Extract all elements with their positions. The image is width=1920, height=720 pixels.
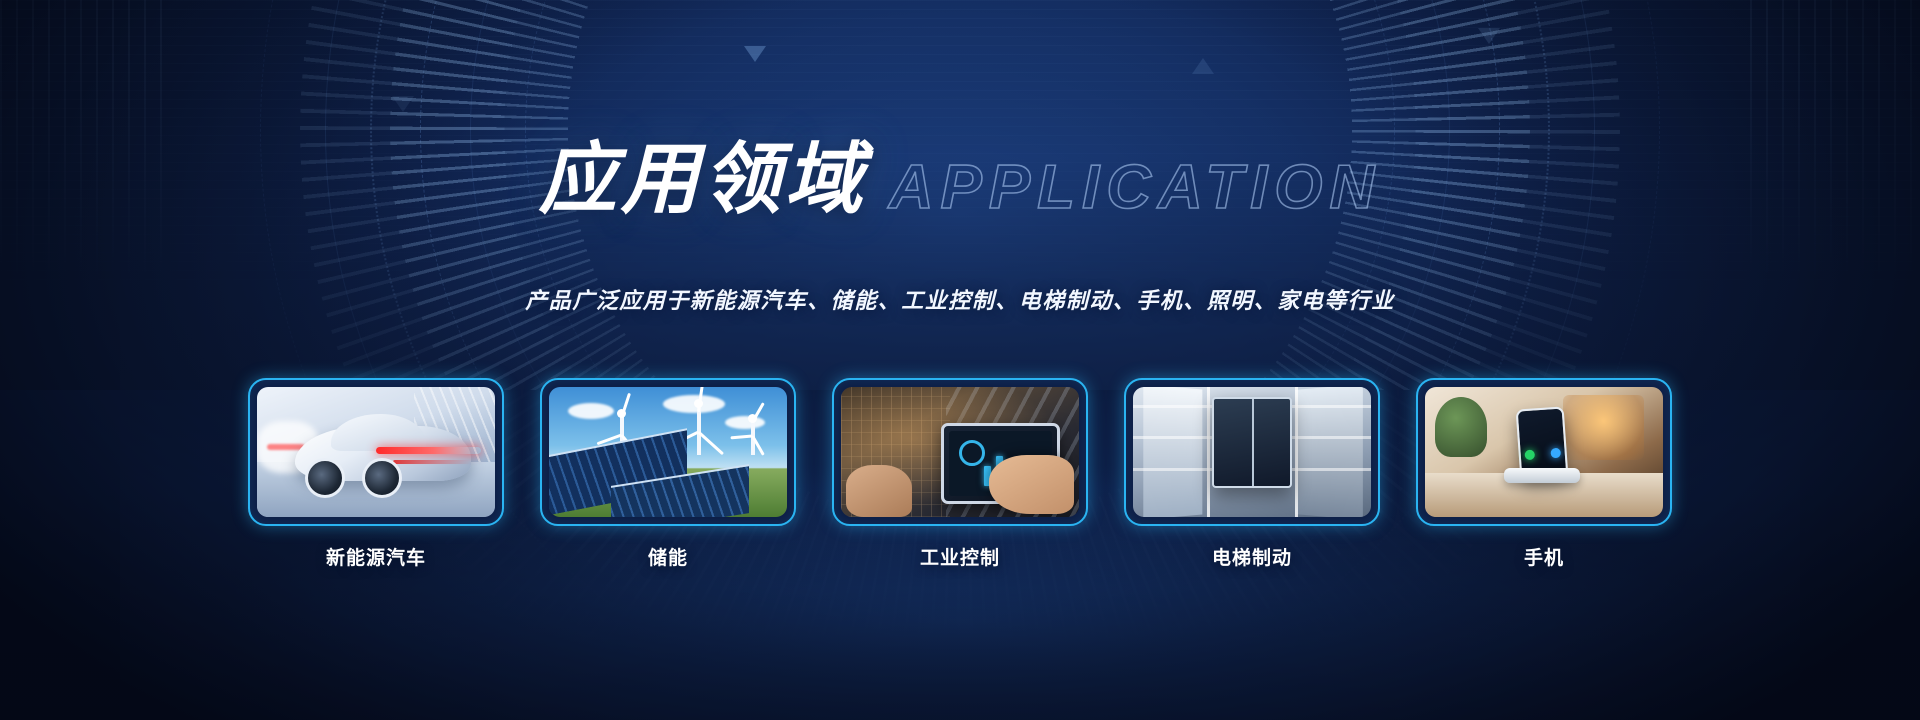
- card-label: 工业控制: [832, 543, 1088, 570]
- banner-stage: 应用领域 APPLICATION 产品广泛应用于新能源汽车、储能、工业控制、电梯…: [0, 0, 1920, 720]
- card-label: 新能源汽车: [248, 543, 504, 570]
- title-chinese: 应用领域: [539, 140, 867, 218]
- card-frame[interactable]: [1416, 378, 1672, 526]
- application-card[interactable]: 工业控制: [832, 378, 1088, 570]
- title-english-outline: APPLICATION: [889, 157, 1382, 219]
- application-card[interactable]: 新能源汽车: [248, 378, 504, 570]
- elevator-shaft-photo: [1133, 387, 1371, 517]
- banner-content: 应用领域 APPLICATION 产品广泛应用于新能源汽车、储能、工业控制、电梯…: [0, 0, 1920, 720]
- application-card[interactable]: 电梯制动: [1124, 378, 1380, 570]
- application-card[interactable]: 手机: [1416, 378, 1672, 570]
- card-frame[interactable]: [832, 378, 1088, 526]
- application-card-list: 新能源汽车: [0, 378, 1920, 570]
- wind-solar-energy-storage-photo: [549, 387, 787, 517]
- card-label: 手机: [1416, 543, 1672, 570]
- ev-car-photo: [257, 387, 495, 517]
- card-frame[interactable]: [1124, 378, 1380, 526]
- application-card[interactable]: 储能: [540, 378, 796, 570]
- page-title: 应用领域 APPLICATION: [0, 140, 1920, 218]
- card-label: 电梯制动: [1124, 543, 1380, 570]
- card-frame[interactable]: [540, 378, 796, 526]
- card-frame[interactable]: [248, 378, 504, 526]
- industrial-control-tablet-photo: [841, 387, 1079, 517]
- card-label: 储能: [540, 543, 796, 570]
- phone-wireless-charger-photo: [1425, 387, 1663, 517]
- subtitle-text: 产品广泛应用于新能源汽车、储能、工业控制、电梯制动、手机、照明、家电等行业: [0, 283, 1920, 315]
